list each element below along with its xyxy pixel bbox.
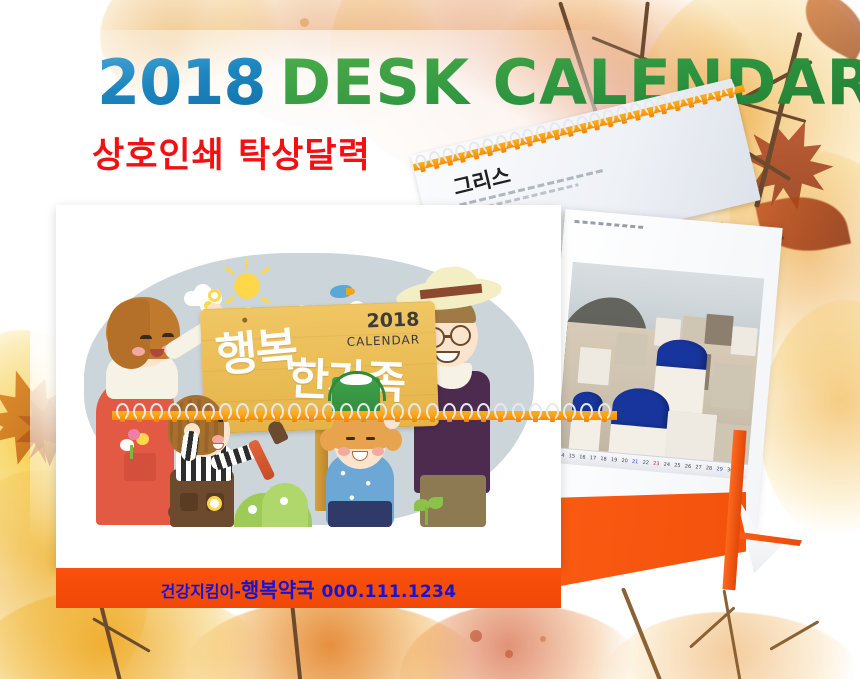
spiral-coil [374, 403, 387, 420]
girl-skirt [328, 501, 392, 527]
paint-splatter [540, 636, 546, 642]
spiral-coil [202, 403, 215, 420]
bird-icon [346, 288, 355, 295]
sign-calendar-label: CALENDAR [346, 332, 420, 349]
girl-eye [366, 437, 375, 440]
date-cell: 15 [566, 454, 577, 460]
spiral-coil [185, 403, 198, 420]
spiral-coil [357, 403, 370, 420]
paint-splatter [505, 650, 513, 658]
spiral-coil [460, 403, 473, 420]
bush-flower [248, 505, 257, 514]
banner-phone: 000.111.1234 [322, 582, 457, 602]
spiral-coil [598, 403, 611, 420]
mother-hair-front [108, 299, 150, 369]
banner-brand: 건강지킴이- [161, 582, 241, 601]
sign-hangul-line1: 행복 [214, 326, 298, 379]
mother-apron-flowers [128, 429, 140, 440]
date-cell: 18 [598, 457, 609, 463]
date-cell: 17 [587, 456, 598, 462]
spiral-coil [443, 403, 456, 420]
sign-nail [242, 317, 247, 322]
date-cell: 22 [640, 461, 651, 467]
title-year: 2018 [97, 46, 280, 119]
mother-eye [162, 333, 174, 337]
spiral-coil [116, 403, 129, 420]
sun-icon [234, 273, 260, 299]
date-cell: 25 [672, 463, 683, 469]
mother-cheek [132, 347, 145, 356]
sprout-icon [428, 497, 443, 509]
spiral-coil [168, 403, 181, 420]
building [705, 314, 734, 346]
date-cell: 26 [682, 464, 693, 470]
flower-icon [210, 499, 219, 508]
building [614, 332, 647, 367]
calendar-front-panel: 1415161718192021222324252627282930 [539, 209, 782, 527]
bush-flower [280, 497, 288, 505]
spiral-coil [288, 403, 301, 420]
leaf-blotch [180, 600, 480, 679]
acorn-icon [168, 505, 182, 519]
date-cell: 28 [703, 466, 714, 472]
paint-splatter [300, 18, 309, 27]
banner-text: 건강지킴이-행복약국000.111.1234 [161, 574, 457, 603]
tree-branch [92, 617, 151, 653]
held-flower [208, 289, 221, 302]
sun-ray [245, 258, 248, 269]
poster-subtitle: 상호인쇄 탁상달력 [92, 127, 371, 178]
date-cell: 27 [693, 465, 704, 471]
pharmacy-ad-banner: 건강지킴이-행복약국000.111.1234 [56, 568, 561, 608]
stand-front-face [550, 492, 746, 588]
photo-caption-line [574, 220, 646, 229]
bush [262, 483, 308, 527]
girl-cheek [338, 447, 350, 456]
spiral-coil [340, 403, 353, 420]
date-cell: 19 [609, 458, 620, 464]
date-cell: 20 [619, 459, 630, 465]
girl-pigtail [384, 429, 402, 451]
mother-eye [140, 335, 152, 339]
family-illustration: 2018 CALENDAR 행복 한가족 [84, 253, 534, 525]
title-main: DESK CALENDAR [280, 46, 860, 119]
tree-branch [769, 620, 819, 650]
flat-desk-calendar: 2018 CALENDAR 행복 한가족 [56, 205, 561, 610]
girl-pigtail [320, 429, 338, 451]
spiral-coil [512, 403, 525, 420]
girl-cheek [372, 447, 384, 456]
date-cell: 29 [714, 467, 725, 473]
spiral-coil [271, 403, 284, 420]
banner-shop: 행복약국 [241, 578, 315, 602]
date-cell: 16 [577, 455, 588, 461]
spiral-coil [254, 403, 267, 420]
sprout-stem [425, 507, 428, 525]
calendar-stand [550, 492, 780, 622]
building [578, 347, 612, 386]
leaf-blotch [600, 612, 860, 679]
date-cell: 21 [630, 460, 641, 466]
boy-overalls-pocket [180, 493, 198, 511]
date-cell: 24 [661, 462, 672, 468]
father-glasses-bridge [444, 335, 452, 338]
building [731, 326, 758, 356]
spiral-coil [546, 403, 559, 420]
paint-splatter [470, 630, 482, 642]
date-cell: 23 [651, 461, 662, 467]
father-glasses [450, 325, 471, 346]
spiral-binding-left [112, 401, 617, 427]
spiral-coil [529, 403, 542, 420]
spiral-coil [426, 403, 439, 420]
mother-pocket [124, 453, 156, 481]
poster-canvas: 2018 DESK CALENDAR 상호인쇄 탁상달력 그리스 [0, 0, 860, 679]
girl-eye [346, 437, 355, 440]
calendar-page: 2018 CALENDAR 행복 한가족 [56, 205, 561, 568]
building [711, 363, 753, 410]
mother-apron-stem [130, 445, 133, 459]
sign-year: 2018 [366, 308, 420, 332]
